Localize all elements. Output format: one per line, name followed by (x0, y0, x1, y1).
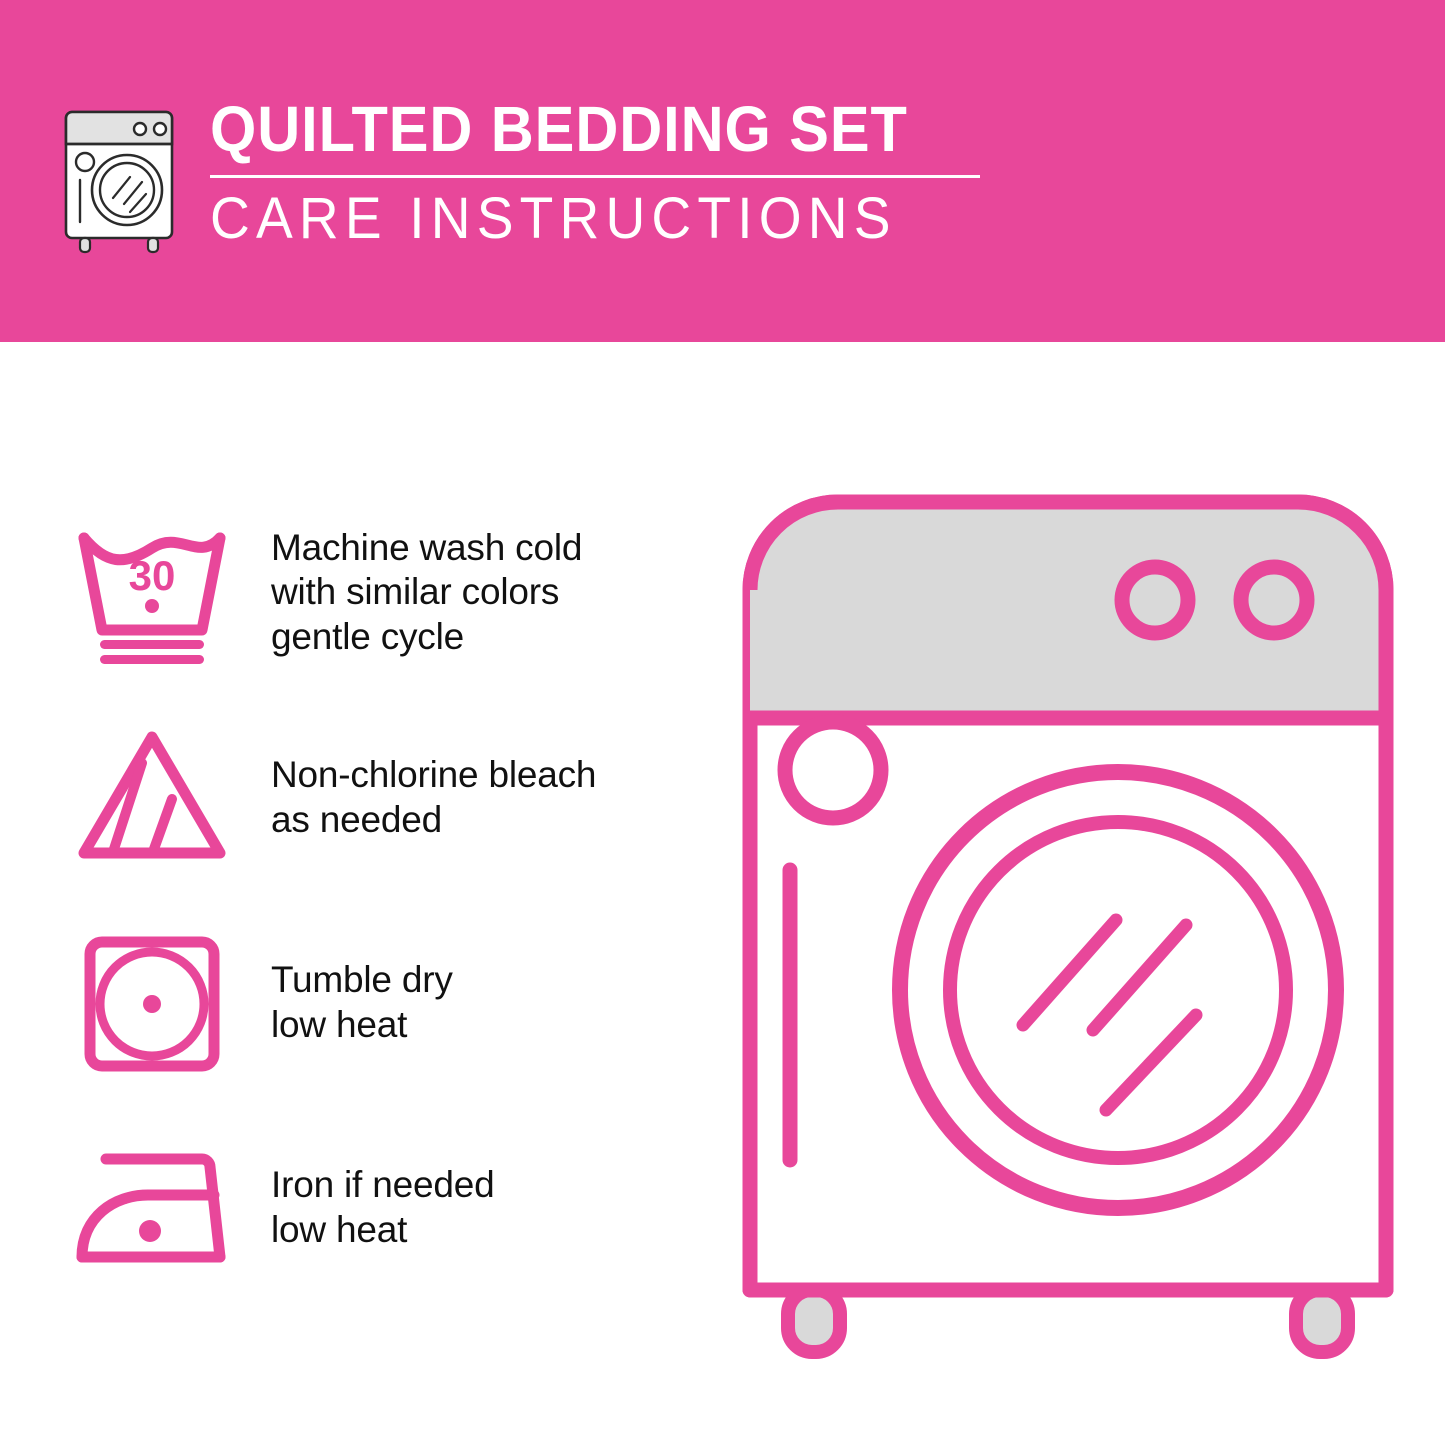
care-label-line: Machine wash cold (271, 526, 582, 570)
care-instructions-list: 30 Machine wash cold with similar colors… (64, 490, 704, 1310)
care-label-line: gentle cycle (271, 615, 582, 659)
care-label-line: as needed (271, 798, 596, 842)
care-label-line: Iron if needed (271, 1163, 494, 1207)
care-label-line: with similar colors (271, 570, 582, 614)
care-label-machine-wash: Machine wash cold with similar colors ge… (271, 526, 582, 658)
iron-low-heat-icon (64, 1133, 239, 1283)
care-label-tumble-dry: Tumble dry low heat (271, 958, 453, 1046)
care-label-bleach: Non-chlorine bleach as needed (271, 753, 596, 841)
care-label-line: Non-chlorine bleach (271, 753, 596, 797)
machine-leg-left (788, 1290, 840, 1352)
page-title: QUILTED BEDDING SET (210, 98, 926, 161)
header-content: QUILTED BEDDING SET CARE INSTRUCTIONS (58, 98, 980, 254)
care-row-machine-wash: 30 Machine wash cold with similar colors… (64, 490, 704, 695)
machine-control-panel (750, 502, 1386, 718)
page-subtitle: CARE INSTRUCTIONS (210, 190, 942, 248)
care-row-iron: Iron if needed low heat (64, 1105, 704, 1310)
care-label-iron: Iron if needed low heat (271, 1163, 494, 1251)
header-text-block: QUILTED BEDDING SET CARE INSTRUCTIONS (210, 98, 980, 248)
care-label-line: low heat (271, 1003, 453, 1047)
care-label-line: low heat (271, 1208, 494, 1252)
wash-tub-30-gentle-icon: 30 (64, 518, 239, 668)
care-label-line: Tumble dry (271, 958, 453, 1002)
tumble-dry-low-heat-icon (64, 928, 239, 1078)
washing-machine-icon (58, 104, 188, 254)
large-washing-machine-illustration (718, 470, 1418, 1360)
machine-leg-right (1296, 1290, 1348, 1352)
header-band: QUILTED BEDDING SET CARE INSTRUCTIONS (0, 0, 1445, 342)
header-divider (210, 175, 980, 178)
care-row-tumble-dry: Tumble dry low heat (64, 900, 704, 1105)
wash-temperature-value: 30 (128, 552, 175, 599)
care-row-bleach: Non-chlorine bleach as needed (64, 695, 704, 900)
non-chlorine-bleach-triangle-icon (64, 723, 239, 873)
